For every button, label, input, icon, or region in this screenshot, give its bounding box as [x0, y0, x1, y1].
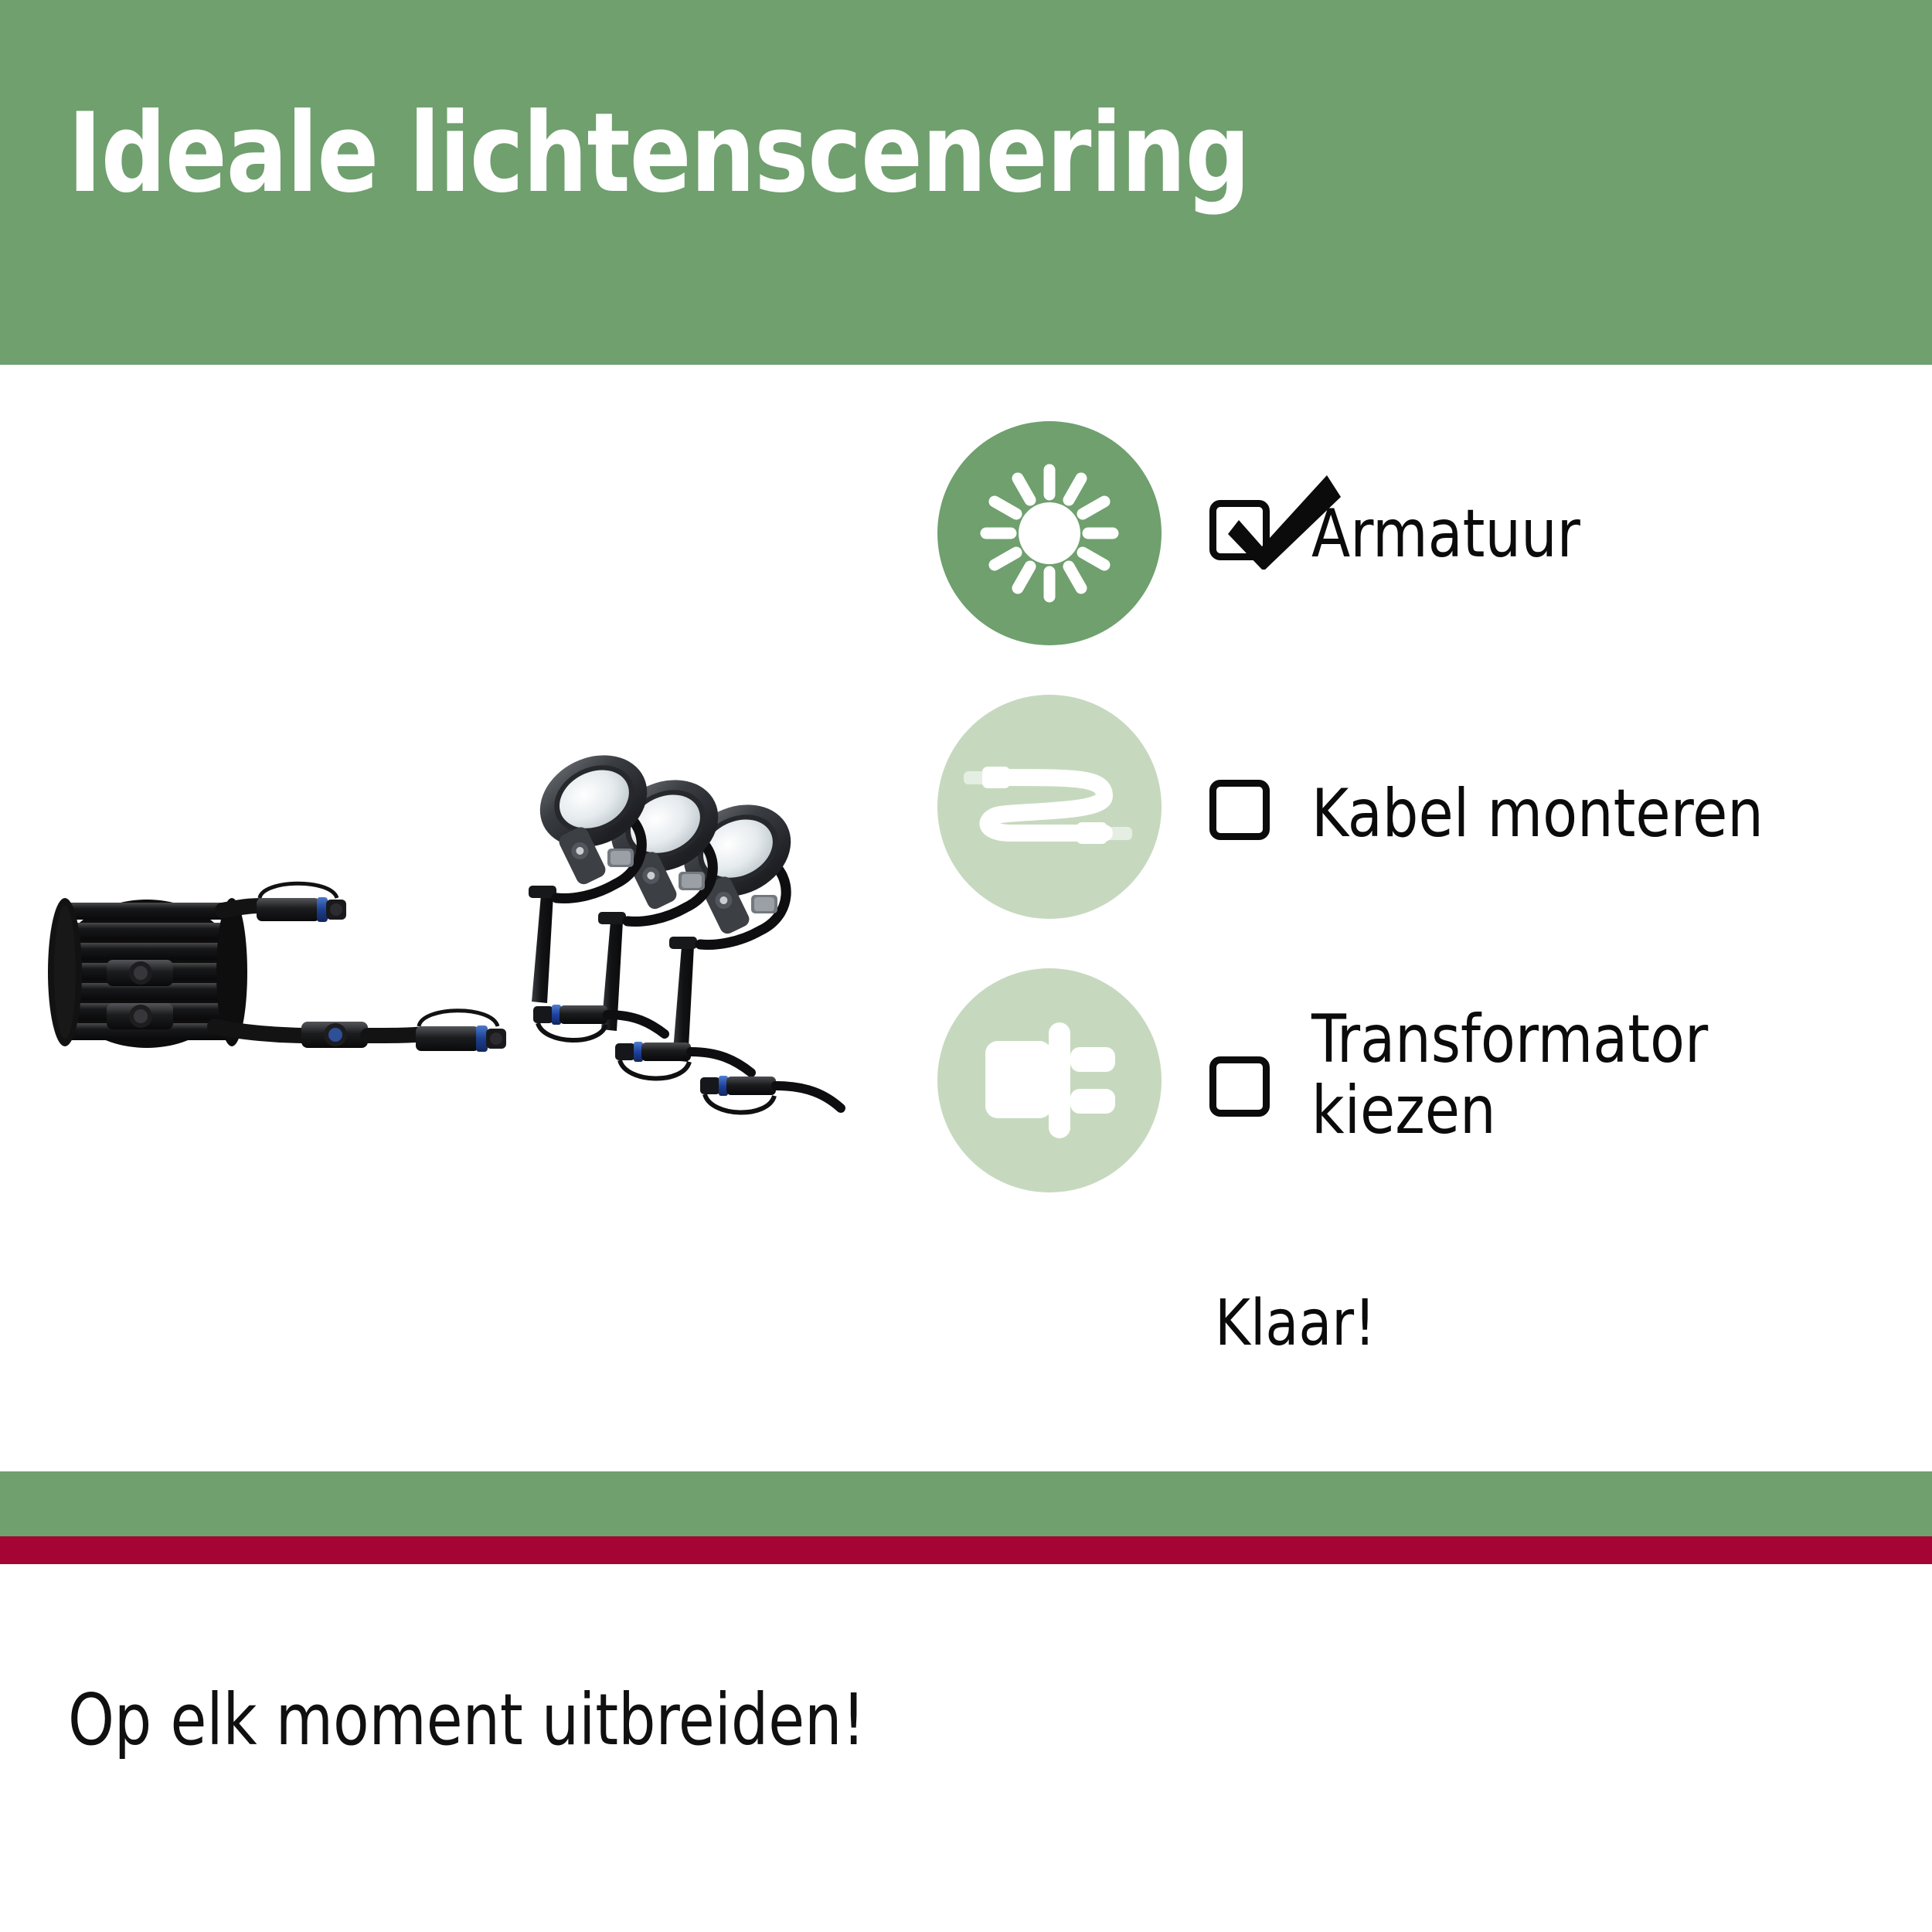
- checkbox-armatuur[interactable]: [1209, 500, 1270, 560]
- poster-root: Ideale lichtenscenering: [0, 0, 1932, 1932]
- header-band: Ideale lichtenscenering: [0, 0, 1932, 365]
- checklist-row-transformator[interactable]: Transformator kiezen: [937, 968, 1896, 1192]
- sun-icon-glyph: [972, 456, 1127, 611]
- checklist-row-armatuur[interactable]: Armatuur: [937, 421, 1896, 645]
- cable-coil-image: [46, 819, 541, 1082]
- footer-band-green: [0, 1471, 1932, 1536]
- plug-icon: [937, 968, 1162, 1192]
- plug-icon-glyph: [968, 1007, 1131, 1154]
- footer-text: Op elk moment uitbreiden!: [68, 1685, 866, 1756]
- checklist: Armatuur Kabel monteren: [937, 421, 1896, 1192]
- spotlights-image: [526, 750, 958, 1229]
- checkbox-kabel[interactable]: [1209, 780, 1270, 840]
- footer-band-red: [0, 1536, 1932, 1564]
- cable-icon-glyph: [961, 730, 1138, 884]
- sun-icon: [937, 421, 1162, 645]
- cable-icon: [937, 695, 1162, 919]
- product-image-area: [0, 371, 927, 1468]
- checklist-label-kabel: Kabel monteren: [1311, 778, 1764, 849]
- done-text: Klaar!: [1215, 1292, 1376, 1355]
- checklist-row-kabel[interactable]: Kabel monteren: [937, 695, 1896, 919]
- checklist-label-armatuur: Armatuur: [1311, 498, 1580, 570]
- page-title: Ideale lichtenscenering: [68, 99, 1250, 209]
- checklist-label-transformator: Transformator kiezen: [1311, 1004, 1708, 1146]
- checkbox-transformator[interactable]: [1209, 1056, 1270, 1117]
